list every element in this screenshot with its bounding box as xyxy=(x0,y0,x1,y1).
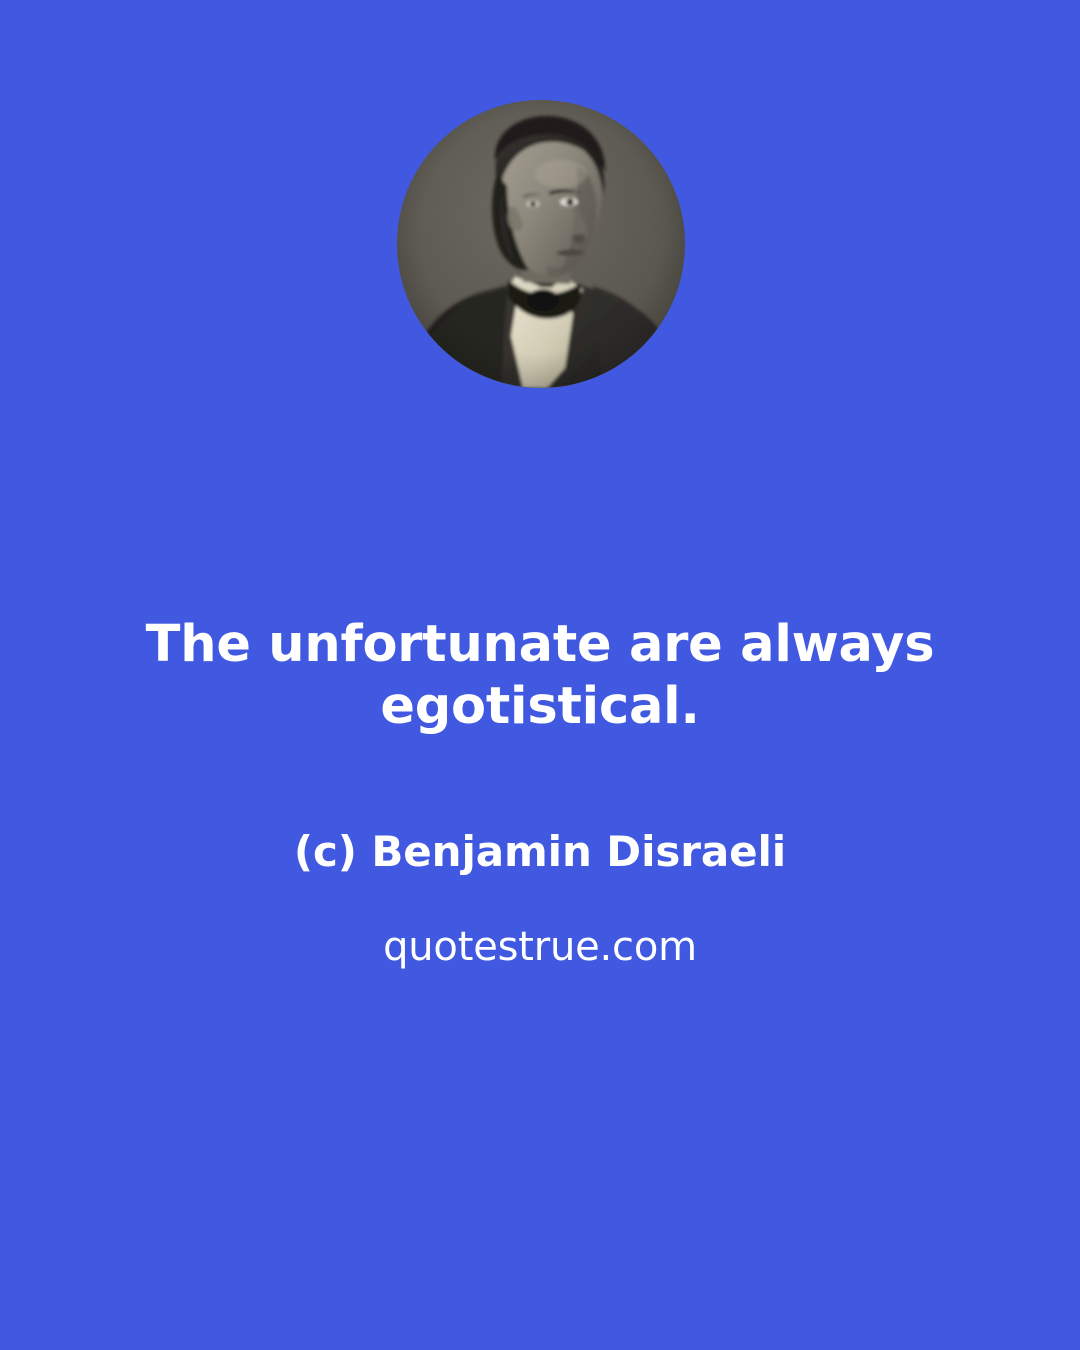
quote-text: The unfortunate are always egotistical. xyxy=(0,614,1080,738)
author-portrait-photo xyxy=(397,100,685,388)
portrait-container xyxy=(397,100,685,388)
site-credit: quotestrue.com xyxy=(0,922,1080,972)
author-attribution: (c) Benjamin Disraeli xyxy=(0,826,1080,878)
quote-card: The unfortunate are always egotistical. … xyxy=(0,0,1080,1350)
